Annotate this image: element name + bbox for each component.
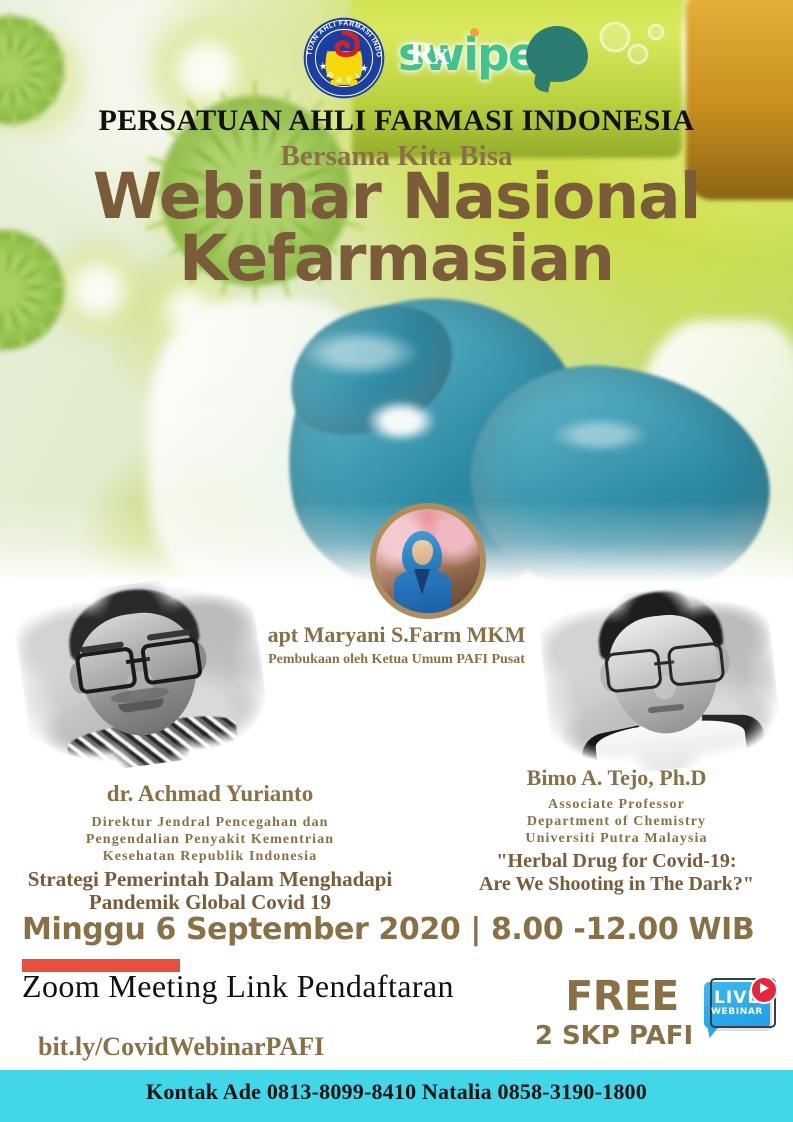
title-line-2: Kefarmasian — [0, 228, 793, 290]
rx-label: Rx — [398, 26, 460, 82]
page-title: Webinar Nasional Kefarmasian — [0, 166, 793, 289]
affiliation-line: Pengendalian Penyakit Kementrian — [0, 831, 420, 848]
live-webinar-badge: LIVE WEBINAR — [700, 976, 778, 1038]
webinar-poster: PERSATUAN AHLI FARMASI INDONESIA ★ P A F… — [0, 0, 793, 1122]
swiperx-logo: swipe Rx — [398, 26, 590, 88]
live-badge-line2: WEBINAR — [704, 1008, 770, 1017]
registration-label: Zoom Meeting Link Pendaftaran — [22, 968, 454, 1005]
swipe-dot-icon — [470, 28, 479, 37]
right-speaker-affiliation: Associate Professor Department of Chemis… — [440, 796, 793, 847]
topic-line: Are We Shooting in The Dark?" — [440, 873, 793, 895]
event-datetime: Minggu 6 September 2020 | 8.00 -12.00 WI… — [22, 912, 754, 947]
left-speaker-info: dr. Achmad Yurianto Direktur Jendral Pen… — [0, 781, 420, 914]
right-speaker-portrait — [536, 578, 784, 781]
left-speaker-name: dr. Achmad Yurianto — [0, 781, 420, 807]
logo-row: PERSATUAN AHLI FARMASI INDONESIA ★ P A F… — [0, 8, 793, 96]
price-label: FREE — [552, 972, 692, 1020]
topic-line: "Herbal Drug for Covid-19: — [440, 850, 793, 872]
left-speaker-portrait — [11, 567, 274, 781]
right-speaker-topic: "Herbal Drug for Covid-19: Are We Shooti… — [440, 850, 793, 895]
left-speaker-topic: Strategi Pemerintah Dalam Menghadapi Pan… — [0, 868, 420, 914]
right-speaker-name: Bimo A. Tejo, Ph.D — [440, 765, 793, 791]
right-speaker-info: Bimo A. Tejo, Ph.D Associate Professor D… — [440, 765, 793, 895]
center-speaker-avatar — [370, 503, 486, 619]
glove-highlight — [552, 418, 648, 452]
organization-name: PERSATUAN AHLI FARMASI INDONESIA — [0, 104, 793, 138]
affiliation-line: Associate Professor — [440, 796, 793, 813]
contact-info: Kontak Ade 0813-8099-8410 Natalia 0858-3… — [0, 1079, 793, 1105]
affiliation-line: Department of Chemistry — [440, 813, 793, 830]
registration-link[interactable]: bit.ly/CovidWebinarPAFI — [38, 1032, 324, 1062]
left-speaker-affiliation: Direktur Jendral Pencegahan dan Pengenda… — [0, 814, 420, 865]
right-speaker-photo — [536, 578, 784, 781]
affiliation-line: Direktur Jendral Pencegahan dan — [0, 814, 420, 831]
affiliation-line: Kesehatan Republik Indonesia — [0, 848, 420, 865]
glove-highlight — [300, 330, 420, 376]
affiliation-line: Universiti Putra Malaysia — [440, 830, 793, 847]
rx-speech-bubble-icon — [526, 26, 588, 82]
glove-highlight — [366, 400, 436, 442]
pafi-logo-icon: PERSATUAN AHLI FARMASI INDONESIA ★ P A F… — [302, 16, 386, 100]
left-speaker-photo — [11, 567, 274, 781]
topic-line: Strategi Pemerintah Dalam Menghadapi — [0, 868, 420, 891]
play-icon — [750, 976, 778, 1004]
credits-label: 2 SKP PAFI — [530, 1021, 698, 1051]
topic-line: Pandemik Global Covid 19 — [0, 891, 420, 914]
